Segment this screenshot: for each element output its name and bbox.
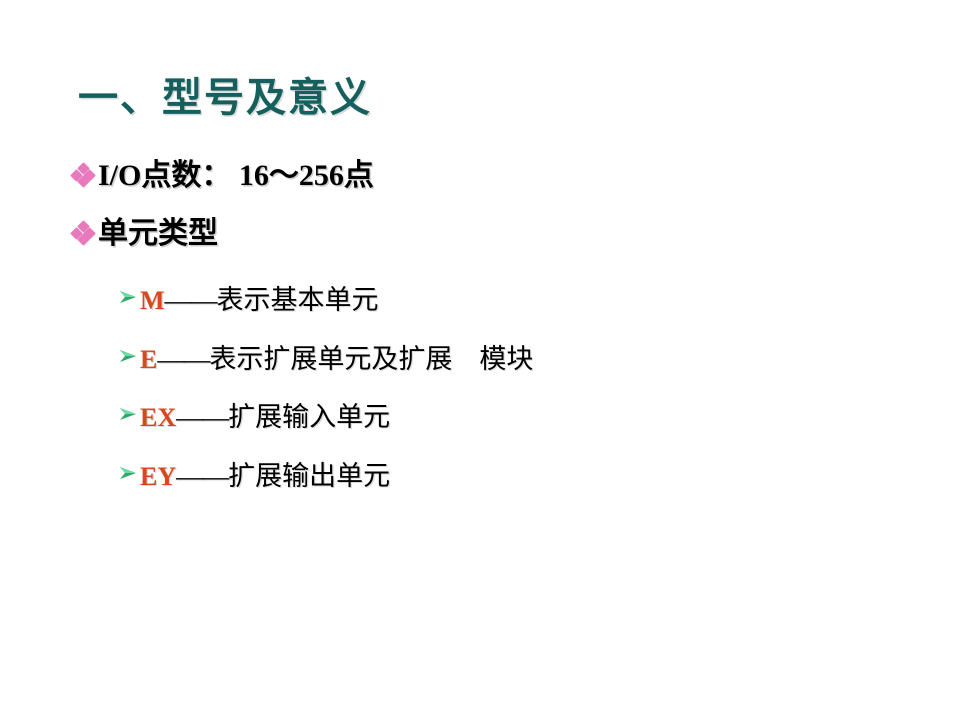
sub-bullet-description-e: 表示扩展单元及扩展 模块 <box>209 337 533 376</box>
green-arrow-bullet-icon <box>118 287 140 312</box>
slide-title: 一、型号及意义 <box>78 78 372 118</box>
sub-bullet-description-ey: 扩展输出单元 <box>228 454 390 493</box>
sub-bullet-description-m: 表示基本单元 <box>217 278 379 317</box>
green-arrow-bullet-icon <box>118 463 140 488</box>
bullet-label-io-points: I/O点数： 16～256点 <box>98 160 374 192</box>
diamond-cluster-bullet-icon <box>72 164 98 191</box>
sub-bullet-code-ex: EX <box>140 403 176 433</box>
sub-bullet-code-e: E <box>140 345 157 375</box>
bullet-item-unit-type: 单元类型 <box>72 218 218 250</box>
sub-bullet-description-ex: 扩展输入单元 <box>228 395 390 434</box>
green-arrow-bullet-icon <box>118 346 140 371</box>
sub-bullet-item-e: E —— 表示扩展单元及扩展 模块 <box>118 337 533 376</box>
sub-bullet-dash: —— <box>176 461 228 492</box>
sub-bullet-item-ey: EY —— 扩展输出单元 <box>118 454 390 493</box>
bullet-label-unit-type: 单元类型 <box>98 218 218 250</box>
sub-bullet-dash: —— <box>176 402 228 433</box>
green-arrow-bullet-icon <box>118 404 140 429</box>
bullet-item-io-points: I/O点数： 16～256点 <box>72 160 374 192</box>
sub-bullet-item-m: M —— 表示基本单元 <box>118 278 379 317</box>
diamond-cluster-bullet-icon <box>72 222 98 249</box>
presentation-slide: 一、型号及意义 I/O点数： 16～256点 单元类型 M <box>0 0 960 720</box>
sub-bullet-dash: —— <box>165 285 217 316</box>
sub-bullet-item-ex: EX —— 扩展输入单元 <box>118 395 390 434</box>
sub-bullet-code-ey: EY <box>140 462 176 492</box>
sub-bullet-dash: —— <box>157 344 209 375</box>
sub-bullet-code-m: M <box>140 286 165 316</box>
